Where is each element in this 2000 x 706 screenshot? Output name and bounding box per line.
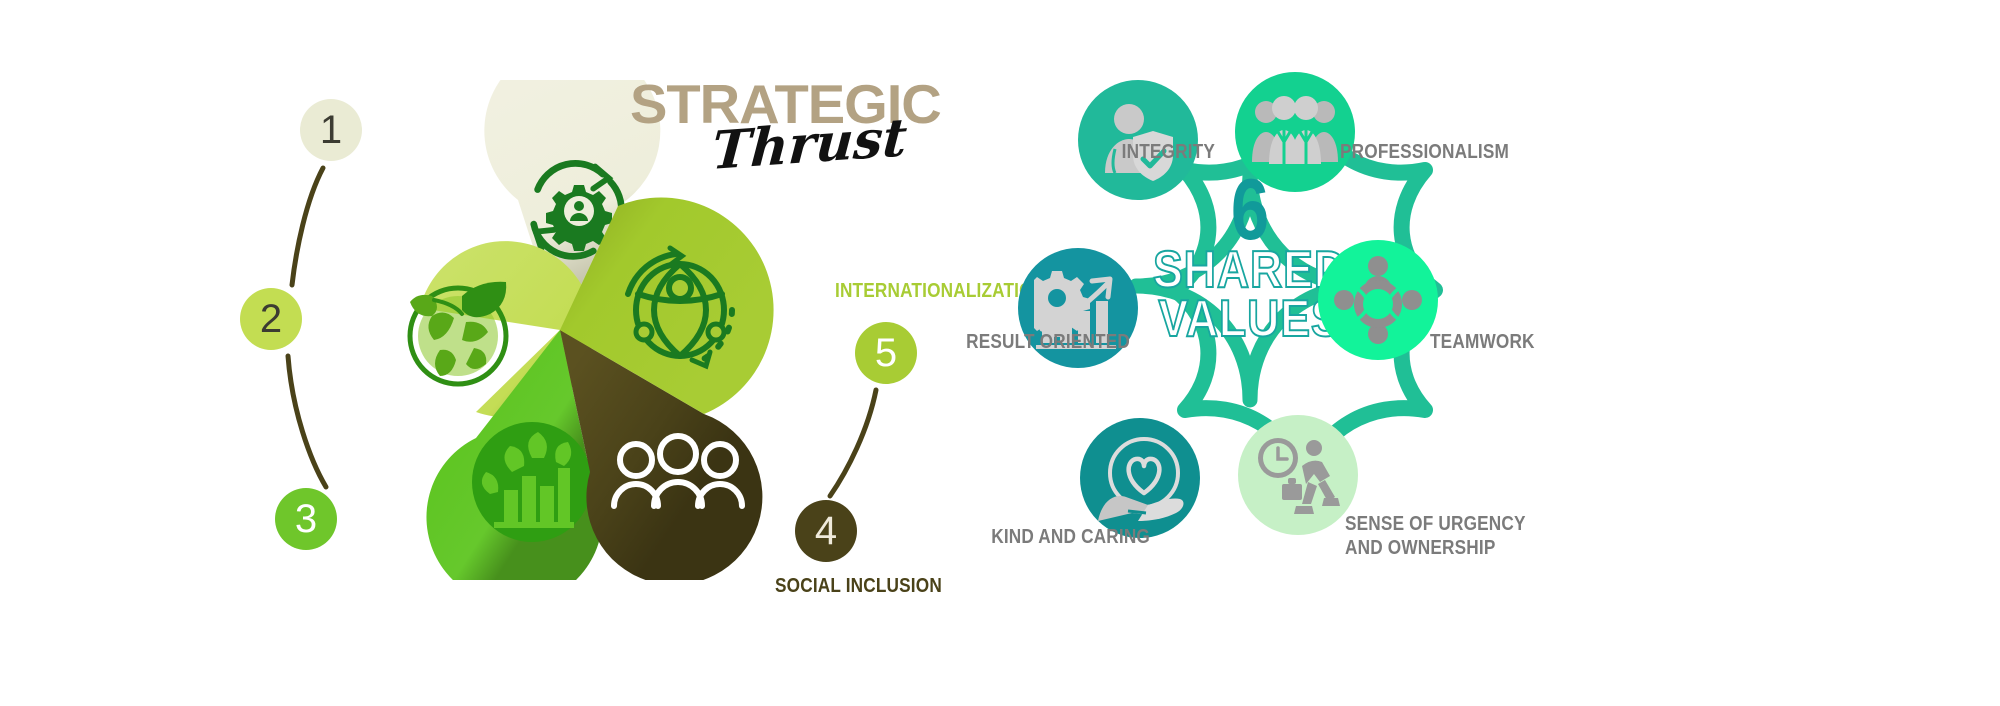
value-circle-teamwork[interactable] xyxy=(1318,240,1438,360)
value-circle-kind-and-caring[interactable] xyxy=(1080,418,1200,538)
thrust-number-4[interactable]: 4 xyxy=(795,500,857,562)
value-label-kind-and-caring: KIND AND CARING xyxy=(940,525,1150,549)
title-script-word: Thrust xyxy=(710,107,909,182)
strategic-thrust-panel: STRATEGIC Thrust 1 2 3 4 5 TRANSPARENT, … xyxy=(0,0,1000,706)
people-team-icon xyxy=(1250,92,1340,172)
shared-values-panel: 6 SHARED VALUES xyxy=(1000,0,2000,706)
value-label-result-oriented: RESULT ORIENTED xyxy=(870,330,1130,354)
hand-heart-icon xyxy=(1094,435,1186,521)
value-label-sense-of-urgency: SENSE OF URGENCY AND OWNERSHIP xyxy=(1345,512,1622,559)
value-label-professionalism: PROFESSIONALISM xyxy=(1340,140,1617,164)
value-circle-sense-of-urgency[interactable] xyxy=(1238,415,1358,535)
value-label-teamwork: TEAMWORK xyxy=(1430,330,1682,354)
value-label-integrity: INTEGRITY xyxy=(1005,140,1215,164)
thrust-number-1[interactable]: 1 xyxy=(300,99,362,161)
value-circle-professionalism[interactable] xyxy=(1235,72,1355,192)
strategic-thrust-title: STRATEGIC Thrust xyxy=(630,62,990,192)
clock-runner-icon xyxy=(1252,432,1344,518)
thrust-number-2[interactable]: 2 xyxy=(240,288,302,350)
teamwork-circle-icon xyxy=(1332,254,1424,346)
infographic-canvas: STRATEGIC Thrust 1 2 3 4 5 TRANSPARENT, … xyxy=(0,0,2000,706)
thrust-number-3[interactable]: 3 xyxy=(275,488,337,550)
